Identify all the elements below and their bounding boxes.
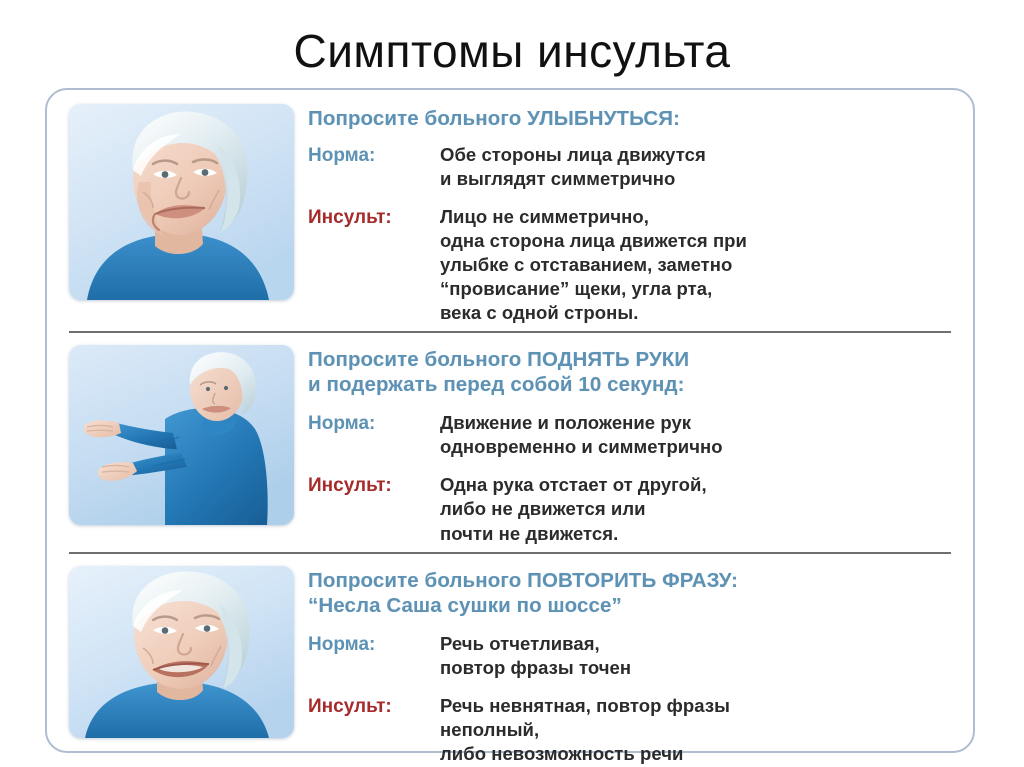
symptoms-card: Попросите больного УЛЫБНУТЬСЯ: Норма: Об… — [45, 88, 975, 753]
illustration-arms — [69, 345, 294, 525]
norm-label: Норма: — [308, 411, 440, 437]
question-heading-speech: Попросите больного ПОВТОРИТЬ ФРАЗУ: “Нес… — [308, 568, 953, 618]
section-smile: Попросите больного УЛЫБНУТЬСЯ: Норма: Об… — [47, 90, 973, 331]
norm-label: Норма: — [308, 632, 440, 658]
stroke-label: Инсульт: — [308, 205, 440, 231]
section-arms: Попросите больного ПОДНЯТЬ РУКИ и подерж… — [47, 333, 973, 551]
text-column-smile: Попросите больного УЛЫБНУТЬСЯ: Норма: Об… — [294, 104, 953, 325]
question-heading-arms: Попросите больного ПОДНЯТЬ РУКИ и подерж… — [308, 347, 953, 397]
stroke-value-speech: Речь невнятная, повтор фразы неполный, л… — [440, 694, 953, 766]
text-column-speech: Попросите больного ПОВТОРИТЬ ФРАЗУ: “Нес… — [294, 566, 953, 767]
stroke-label: Инсульт: — [308, 694, 440, 720]
stroke-value-smile: Лицо не симметрично, одна сторона лица д… — [440, 205, 953, 325]
elderly-woman-speaking-illustration — [69, 566, 294, 738]
text-column-arms: Попросите больного ПОДНЯТЬ РУКИ и подерж… — [294, 345, 953, 545]
infographic-page: Симптомы инсульта — [0, 0, 1024, 767]
norm-label: Норма: — [308, 143, 440, 169]
elderly-woman-asymmetric-smile-illustration — [69, 104, 294, 300]
stroke-label: Инсульт: — [308, 473, 440, 499]
norm-row-speech: Норма: Речь отчетливая, повтор фразы точ… — [308, 632, 953, 680]
section-speech: Попросите больного ПОВТОРИТЬ ФРАЗУ: “Нес… — [47, 554, 973, 767]
stroke-row-smile: Инсульт: Лицо не симметрично, одна сторо… — [308, 205, 953, 325]
question-heading-smile: Попросите больного УЛЫБНУТЬСЯ: — [308, 106, 953, 131]
norm-value-speech: Речь отчетливая, повтор фразы точен — [440, 632, 953, 680]
stroke-row-arms: Инсульт: Одна рука отстает от другой, ли… — [308, 473, 953, 545]
norm-row-arms: Норма: Движение и положение рук одноврем… — [308, 411, 953, 459]
illustration-smile — [69, 104, 294, 300]
stroke-value-arms: Одна рука отстает от другой, либо не дви… — [440, 473, 953, 545]
illustration-speech — [69, 566, 294, 738]
norm-value-smile: Обе стороны лица движутся и выглядят сим… — [440, 143, 953, 191]
elderly-woman-arms-raised-illustration — [69, 345, 294, 525]
norm-value-arms: Движение и положение рук одновременно и … — [440, 411, 953, 459]
norm-row-smile: Норма: Обе стороны лица движутся и выгля… — [308, 143, 953, 191]
stroke-row-speech: Инсульт: Речь невнятная, повтор фразы не… — [308, 694, 953, 766]
page-title: Симптомы инсульта — [0, 24, 1024, 78]
